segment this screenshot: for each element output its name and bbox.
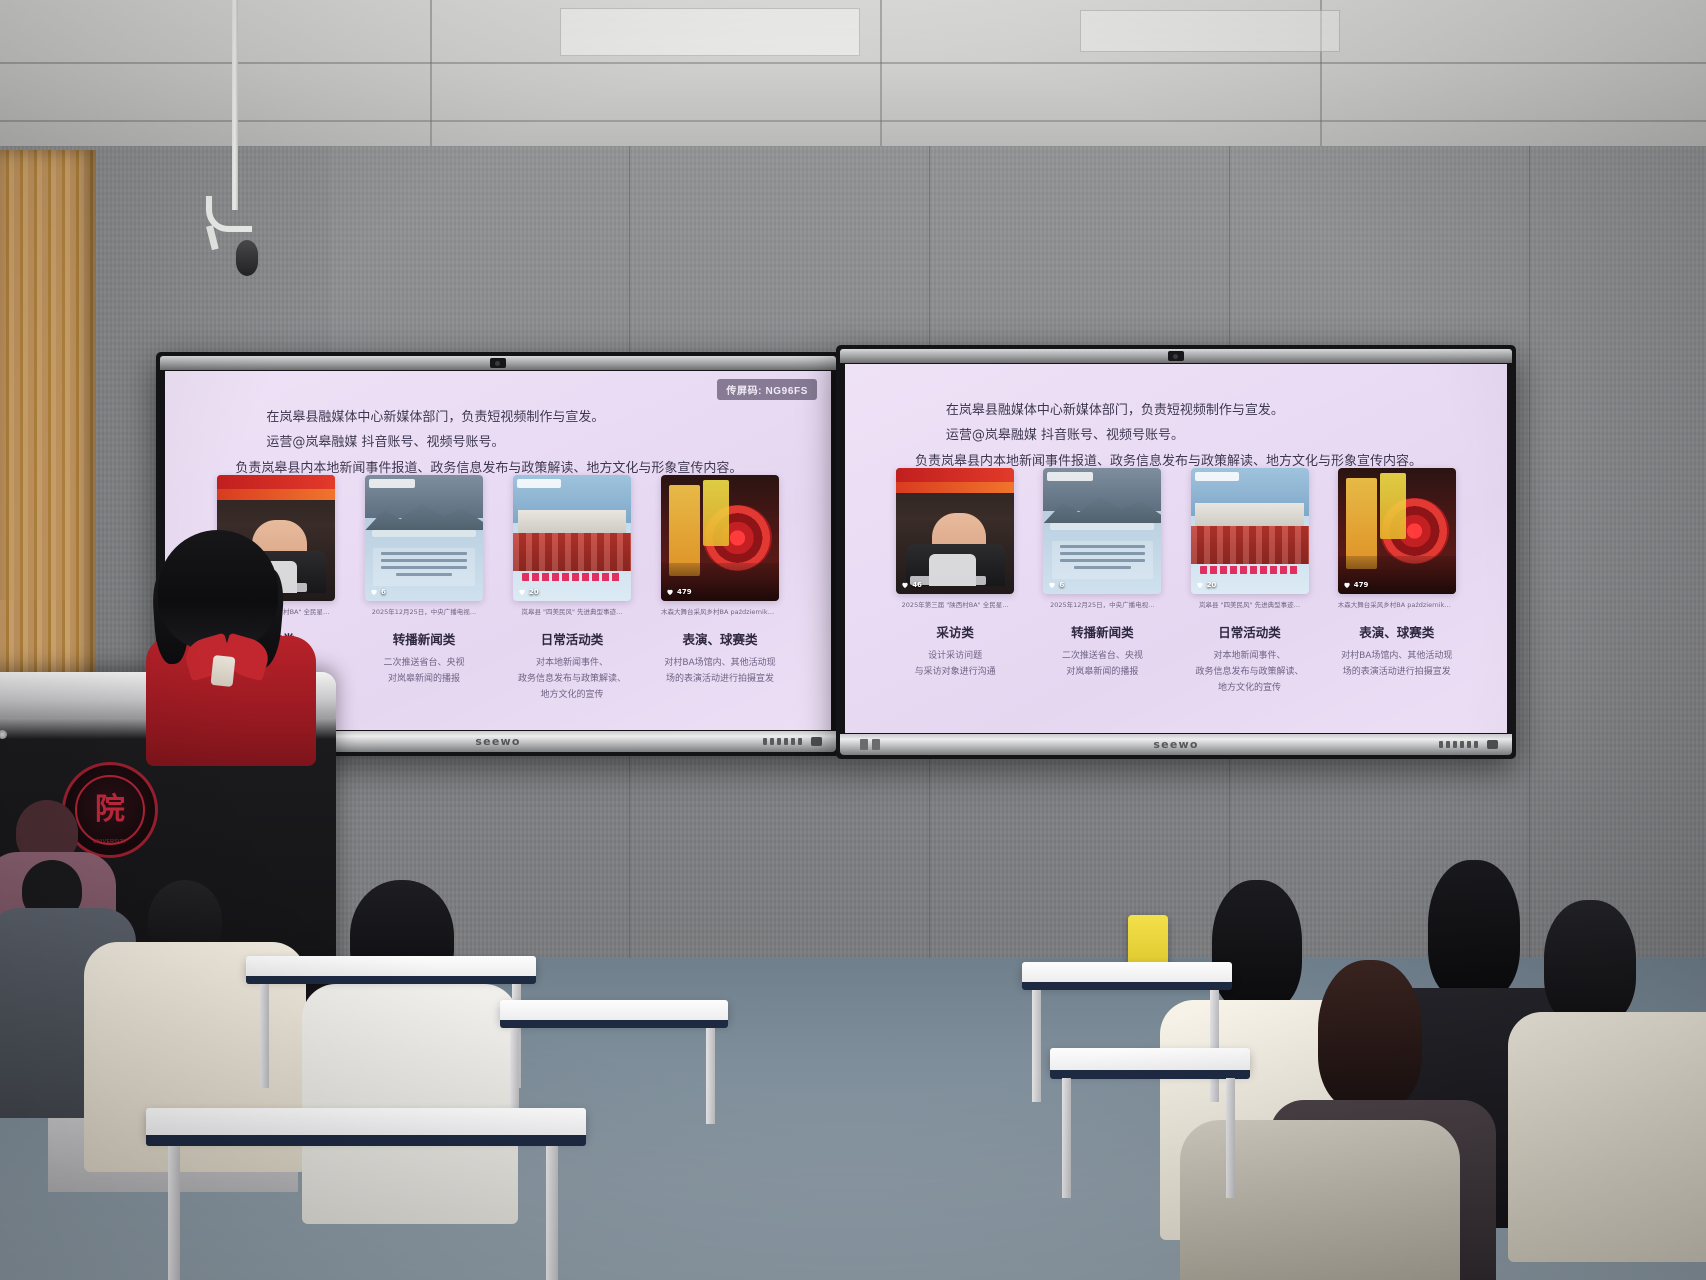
heart-icon [1196,581,1204,589]
slide-line-1: 在岚皋县融媒体中心新媒体部门，负责短视频制作与宣发。 [895,398,1456,423]
thumbnail-performance-match: 479 [1338,468,1456,594]
like-count: 6 [1048,581,1064,589]
thumbnail-caption: 2025年第三届 "陕西村BA" 全民星… [896,599,1014,609]
category-description: 对村BA场馆内、其他活动现 场的表演活动进行拍摄宣发 [664,656,775,688]
port-row-icon [1439,741,1478,748]
category-title: 表演、球赛类 [682,629,757,648]
category-description: 二次推送省台、央视 对岚皋新闻的播报 [1062,649,1143,681]
category-description: 设计采访问题 与采访对象进行沟通 [915,649,996,681]
thumbnail-caption: 岚皋县 "四美民风" 先进典型事迹… [1191,599,1309,609]
right-display-screen[interactable]: 在岚皋县融媒体中心新媒体部门，负责短视频制作与宣发。 运营@岚皋融媒 抖音账号、… [845,364,1507,733]
like-count: 479 [1343,581,1369,589]
slide-content: 在岚皋县融媒体中心新媒体部门，负责短视频制作与宣发。 运营@岚皋融媒 抖音账号、… [845,364,1507,733]
thumbnail-interview: 46 [896,468,1014,594]
presenter [152,530,312,730]
thumbnail-caption: 木森大舞台采风乡村BA październik，木森大… [1338,599,1456,609]
like-count: 20 [518,588,539,596]
seewo-logo: seewo [475,735,520,748]
ceiling [0,0,1706,150]
display-top-bezel [160,356,836,370]
display-top-bezel [840,349,1512,363]
like-count-value: 6 [381,588,386,596]
presenter-scarf [210,655,235,687]
category-title: 采访类 [936,622,974,641]
like-count-value: 46 [912,581,922,589]
thumbnail-caption: 2025年12月25日，中央广播电视… [365,606,483,616]
camera-icon [490,358,506,368]
like-count-value: 20 [1207,581,1217,589]
desk [146,1108,586,1280]
side-port-icon [860,739,880,750]
heart-icon [370,588,378,596]
slide-card-interview: 46 2025年第三届 "陕西村BA" 全民星… 采访类 设计采访问题 与采访对… [896,468,1014,681]
category-title: 转播新闻类 [1071,622,1134,641]
category-description: 对村BA场馆内、其他活动现 场的表演活动进行拍摄宣发 [1341,649,1452,681]
category-title: 日常活动类 [1218,622,1281,641]
heart-icon [518,588,526,596]
slide-card-performance-match: 479 木森大舞台采风乡村BA październik，木森大… 表演、球赛类 … [1338,468,1456,681]
heart-icon [1048,581,1056,589]
display-bottom-bezel: seewo [840,734,1512,755]
right-interactive-display[interactable]: 在岚皋县融媒体中心新媒体部门，负责短视频制作与宣发。 运营@岚皋融媒 抖音账号、… [836,345,1516,759]
slide-line-2: 运营@岚皋融媒 抖音账号、视频号账号。 [895,423,1456,448]
category-description: 对本地新闻事件、 政务信息发布与政策解读、 地方文化的宣传 [518,656,626,703]
category-title: 表演、球赛类 [1359,622,1434,641]
category-description: 二次推送省台、央视 对岚皋新闻的播报 [383,656,464,688]
list-item [1524,900,1706,1240]
thumbnail-rebroadcast-news: 6 [1043,468,1161,594]
port-row-icon [763,738,802,745]
slide-text-block: 在岚皋县融媒体中心新媒体部门，负责短视频制作与宣发。 运营@岚皋融媒 抖音账号、… [895,398,1456,474]
thumbnail-performance-match: 479 [661,475,779,601]
power-button[interactable] [811,737,822,746]
seewo-logo: seewo [1153,738,1198,751]
power-button[interactable] [1487,740,1498,749]
slide-card-daily-activity: 20 岚皋县 "四美民风" 先进典型事迹… 日常活动类 对本地新闻事件、 政务信… [1191,468,1309,696]
like-count-value: 20 [529,588,539,596]
slide-card-rebroadcast-news: 6 2025年12月25日，中央广播电视… 转播新闻类 二次推送省台、央视 对岚… [1043,468,1161,681]
category-description: 对本地新闻事件、 政务信息发布与政策解读、 地方文化的宣传 [1196,649,1304,696]
like-count-value: 479 [1354,581,1369,589]
slide-card-rebroadcast-news: 6 2025年12月25日，中央广播电视… 转播新闻类 二次推送省台、央视 对岚… [365,475,483,688]
thumbnail-daily-activity: 20 [1191,468,1309,594]
like-count: 6 [370,588,386,596]
like-count: 46 [901,581,922,589]
slide-line-2: 运营@岚皋融媒 抖音账号、视频号账号。 [216,430,781,455]
ceiling-microphone-rod [232,0,238,210]
like-count: 20 [1196,581,1217,589]
heart-icon [666,588,674,596]
desk [246,956,536,1086]
desk [500,1000,728,1120]
like-count-value: 479 [677,588,692,596]
category-title: 转播新闻类 [393,629,456,648]
podium-fastener [0,730,7,739]
slide-card-row: 46 2025年第三届 "陕西村BA" 全民星… 采访类 设计采访问题 与采访对… [845,468,1507,696]
microphone-icon [236,240,258,276]
thumbnail-rebroadcast-news: 6 [365,475,483,601]
like-count-value: 6 [1059,581,1064,589]
presenter-hair [158,530,278,650]
slide-line-1: 在岚皋县融媒体中心新媒体部门，负责短视频制作与宣发。 [216,405,781,430]
thumbnail-caption: 岚皋县 "四美民风" 先进典型事迹… [513,606,631,616]
lecture-hall-scene: 传屏码: NG96FS 在岚皋县融媒体中心新媒体部门，负责短视频制作与宣发。 运… [0,0,1706,1280]
slide-text-block: 在岚皋县融媒体中心新媒体部门，负责短视频制作与宣发。 运营@岚皋融媒 抖音账号、… [216,405,781,481]
desk [1050,1048,1250,1198]
like-count: 479 [666,588,692,596]
heart-icon [901,581,909,589]
category-title: 日常活动类 [541,629,604,648]
slide-card-performance-match: 479 木森大舞台采风乡村BA październik，木森大… 表演、球赛类 … [661,475,779,688]
thumbnail-daily-activity: 20 [513,475,631,601]
thumbnail-caption: 木森大舞台采风乡村BA październik，木森大… [661,606,779,616]
slide-card-daily-activity: 20 岚皋县 "四美民风" 先进典型事迹… 日常活动类 对本地新闻事件、 政务信… [513,475,631,703]
thumbnail-caption: 2025年12月25日，中央广播电视… [1043,599,1161,609]
camera-icon [1168,351,1184,361]
heart-icon [1343,581,1351,589]
